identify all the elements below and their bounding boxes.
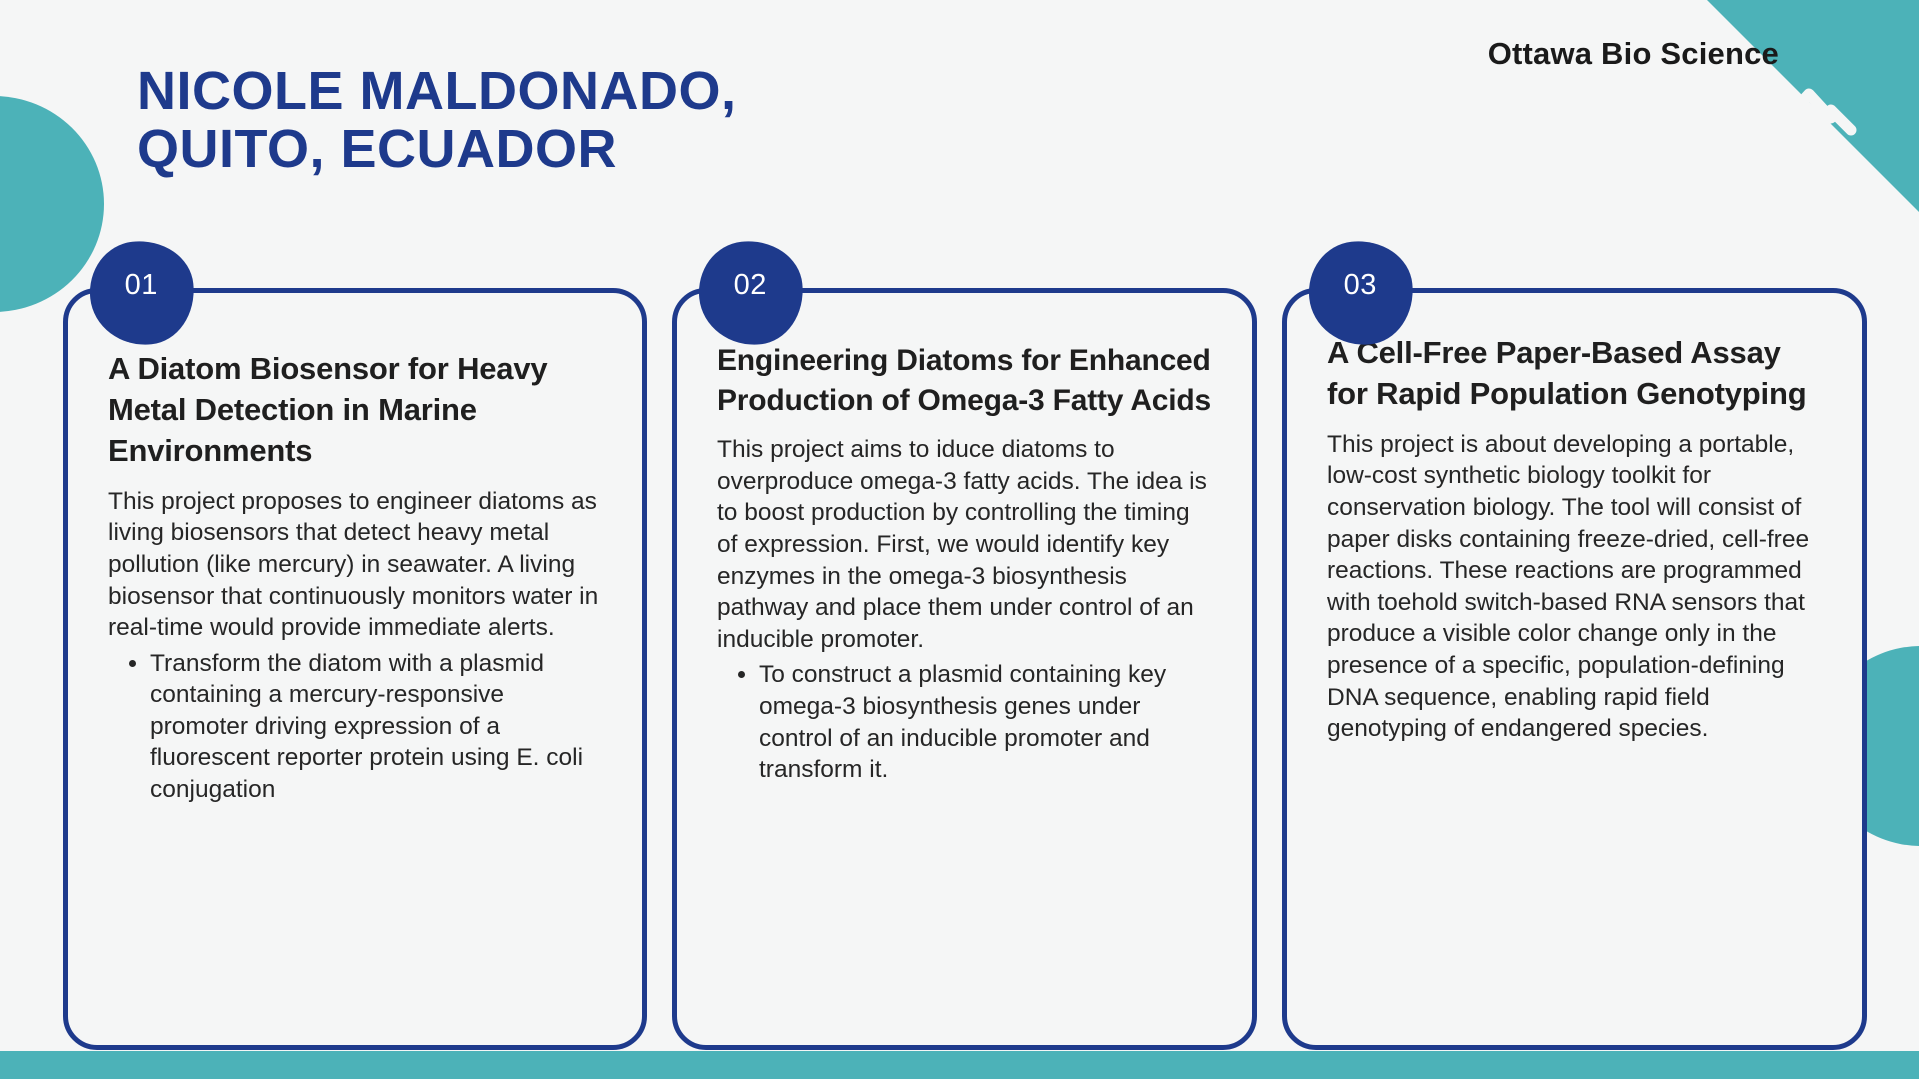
card-bullet-item: Transform the diatom with a plasmid cont… [150, 648, 602, 806]
card-content: A Diatom Biosensor for Heavy Metal Detec… [68, 293, 642, 806]
card-body-text: This project proposes to engineer diatom… [108, 486, 602, 644]
card-title: Engineering Diatoms for Enhanced Product… [717, 341, 1212, 420]
card-content: Engineering Diatoms for Enhanced Product… [677, 293, 1252, 786]
card-bullet-item: To construct a plasmid containing key om… [759, 659, 1212, 785]
slide-canvas: Ottawa Bio Science NICOLE MALDONADO, QUI… [0, 0, 1919, 1079]
card-bullet-list: To construct a plasmid containing key om… [717, 659, 1212, 785]
project-card[interactable]: 02 Engineering Diatoms for Enhanced Prod… [672, 288, 1257, 1050]
project-card[interactable]: 01 A Diatom Biosensor for Heavy Metal De… [63, 288, 647, 1050]
card-title: A Diatom Biosensor for Heavy Metal Detec… [108, 349, 602, 472]
card-content: A Cell-Free Paper-Based Assay for Rapid … [1287, 293, 1862, 745]
card-number-label: 02 [698, 269, 802, 302]
card-bullet-list: Transform the diatom with a plasmid cont… [108, 648, 602, 806]
card-body-text: This project is about developing a porta… [1327, 429, 1822, 745]
card-number-label: 03 [1308, 269, 1412, 302]
project-card[interactable]: 03 A Cell-Free Paper-Based Assay for Rap… [1282, 288, 1867, 1050]
card-title: A Cell-Free Paper-Based Assay for Rapid … [1327, 333, 1822, 415]
project-card-list: 01 A Diatom Biosensor for Heavy Metal De… [0, 0, 1919, 1079]
card-number-label: 01 [89, 269, 193, 302]
card-body-text: This project aims to iduce diatoms to ov… [717, 434, 1212, 655]
